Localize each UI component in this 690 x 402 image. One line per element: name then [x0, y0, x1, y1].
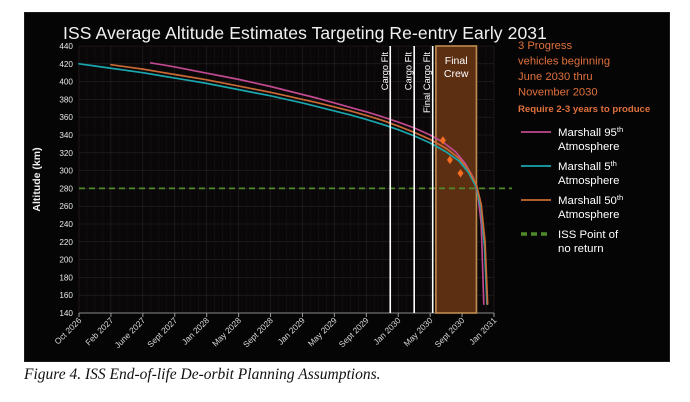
- y-tick-label: 200: [59, 256, 73, 265]
- x-tick-label: Oct 2026: [52, 315, 83, 346]
- x-tick-label: May 2029: [306, 315, 339, 348]
- altitude-chart: FinalCrew Cargo FltCargo FltFinal Cargo …: [25, 13, 669, 361]
- x-tick-label: Sept 2027: [145, 315, 179, 349]
- y-tick-label: 260: [59, 202, 73, 211]
- legend-label-2-0: Atmosphere: [558, 141, 619, 153]
- annotation-line-0: 3 Progress: [518, 40, 573, 52]
- x-tick-label: Feb 2027: [83, 315, 115, 347]
- event-band-layer: FinalCrew: [436, 46, 477, 313]
- event-line-label-1: Cargo Flt: [404, 52, 414, 91]
- x-tick-label: Jan 2029: [275, 315, 307, 347]
- y-tick-label: 320: [59, 149, 73, 158]
- x-tick-label: Sept 2030: [432, 315, 466, 349]
- y-tick-label: 180: [59, 273, 73, 282]
- x-tick-label: Jan 2028: [180, 315, 212, 347]
- y-tick-label: 360: [59, 113, 73, 122]
- chart-legend: Marshall 95thAtmosphereMarshall 5thAtmos…: [521, 125, 623, 255]
- legend-label-2-2: Atmosphere: [558, 209, 619, 221]
- x-tick-label: May 2030: [401, 315, 434, 348]
- x-tick-label: June 2027: [113, 315, 148, 350]
- y-tick-label: 240: [59, 220, 73, 229]
- legend-label-2-3: no return: [558, 243, 604, 255]
- x-tick-label: Jan 2030: [371, 315, 403, 347]
- annotation-line-2: June 2030 thru: [518, 71, 593, 83]
- y-tick-label: 340: [59, 131, 73, 140]
- y-axis-ticks: 4404204003803603403203002802602402202001…: [59, 42, 73, 318]
- legend-label-1: Marshall 5th: [558, 159, 617, 173]
- legend-label-0: Marshall 95th: [558, 125, 623, 139]
- y-tick-label: 220: [59, 238, 73, 247]
- y-tick-label: 140: [59, 309, 73, 318]
- y-tick-label: 380: [59, 95, 73, 104]
- annotation-subnote: Require 2-3 years to produce: [518, 104, 650, 115]
- legend-label-3: ISS Point of: [558, 229, 619, 241]
- legend-label-2: Marshall 50th: [558, 193, 623, 207]
- annotation-line-3: November 2030: [518, 87, 598, 99]
- x-axis-ticks: Oct 2026Feb 2027June 2027Sept 2027Jan 20…: [52, 313, 498, 350]
- x-tick-label: Jan 2031: [467, 315, 499, 347]
- x-tick-label: May 2028: [210, 315, 243, 348]
- y-axis-title: Altitude (km): [31, 147, 43, 211]
- y-tick-label: 160: [59, 291, 73, 300]
- chart-panel: ISS Average Altitude Estimates Targeting…: [24, 12, 670, 362]
- final-crew-label-2: Crew: [444, 68, 469, 80]
- y-tick-label: 280: [59, 184, 73, 193]
- y-tick-label: 300: [59, 167, 73, 176]
- x-tick-label: Sept 2028: [241, 315, 275, 349]
- final-crew-label: Final: [445, 55, 468, 67]
- y-axis-title-text: Altitude (km): [31, 147, 43, 211]
- y-tick-label: 440: [59, 42, 73, 51]
- x-tick-label: Sept 2029: [337, 315, 371, 349]
- event-line-label-2: Final Cargo Flt: [422, 52, 432, 113]
- figure-caption: Figure 4. ISS End-of-life De-orbit Plann…: [24, 366, 664, 384]
- y-tick-label: 400: [59, 78, 73, 87]
- annotation-text: 3 Progressvehicles beginningJune 2030 th…: [518, 40, 650, 115]
- y-tick-label: 420: [59, 60, 73, 69]
- event-line-label-0: Cargo Flt: [380, 52, 390, 91]
- legend-label-2-1: Atmosphere: [558, 175, 619, 187]
- annotation-line-1: vehicles beginning: [518, 56, 610, 68]
- figure-container: ISS Average Altitude Estimates Targeting…: [0, 0, 690, 402]
